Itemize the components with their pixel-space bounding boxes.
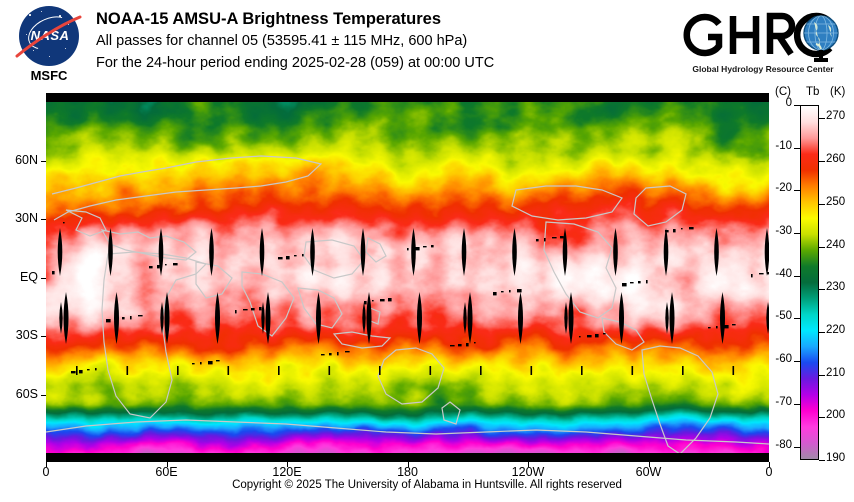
data-gap [159,228,164,276]
page-header: NASA MSFC NOAA-15 AMSU-A Brightness Temp… [0,0,854,93]
data-gap-speck [114,318,118,319]
data-gap [215,292,220,344]
data-gap-speck [337,352,339,355]
data-gap-speck [501,291,504,292]
data-gap-speck [423,246,427,247]
colorbar-celsius-label: -30 [764,225,792,237]
data-gap [310,228,315,276]
data-gap [665,302,668,334]
data-gap [468,292,473,344]
colorbar[interactable] [800,105,819,460]
lat-tick-label: 30S [0,328,38,342]
data-gap-speck [364,301,367,304]
data-gap-speck [493,292,497,295]
data-gap-speck [673,229,676,232]
data-gap-speck [681,228,683,229]
data-gap-tick [329,366,331,375]
data-gap-speck [130,316,132,319]
data-gap-speck [79,370,83,373]
lat-tick-label: 30N [0,211,38,225]
data-gap-speck [243,309,248,310]
data-gap-speck [646,280,648,283]
data-gap-speck [251,308,255,310]
lat-tick-label: 60N [0,153,38,167]
data-gap-speck [689,227,694,229]
data-gap-speck [122,317,125,319]
data-gap-speck [372,300,374,301]
data-gap-speck [294,255,297,256]
lat-tick-mark [41,278,46,279]
title-block: NOAA-15 AMSU-A Brightness Temperatures A… [96,8,494,74]
data-gap-tick [531,366,533,375]
data-gap [564,302,567,334]
data-gap [266,292,271,344]
colorbar-kelvin-tick [819,118,825,119]
colorbar-kelvin-label: 190 [826,452,845,464]
colorbar-kelvin-label: 200 [826,409,845,421]
msfc-label: MSFC [12,68,86,83]
lon-tick-mark [528,462,529,467]
colorbar-kelvin-label: 230 [826,281,845,293]
colorbar-unit-kelvin: (K) [830,86,845,98]
colorbar-kelvin-label: 260 [826,153,845,165]
ghrc-logo: Global Hydrology Resource Center [678,6,846,82]
data-gap-speck [595,334,599,337]
data-gap [58,228,63,276]
data-gap [165,292,170,344]
colorbar-celsius-label: -50 [764,310,792,322]
colorbar-celsius-label: -70 [764,396,792,408]
nasa-logo: NASA MSFC [12,6,86,88]
lon-tick-mark [769,462,770,467]
data-gap-speck [216,360,220,361]
data-gap [619,292,624,344]
data-gap-speck [380,299,385,301]
data-gap-speck [474,342,476,343]
data-gap [209,228,214,276]
data-gap-speck [466,343,469,346]
lon-tick-label: 120W [506,465,550,479]
data-gap-speck [536,239,539,241]
colorbar-kelvin-tick [819,460,825,461]
colorbar-kelvin-label: 270 [826,110,845,122]
data-gap [261,302,264,334]
colorbar-kelvin-label: 210 [826,367,845,379]
lon-tick-label: 0 [747,465,791,479]
data-gap [462,228,467,276]
data-gap-speck [724,325,729,328]
colorbar-celsius-label: -10 [764,140,792,152]
data-gap-speck [286,256,290,259]
data-gap-speck [458,344,462,346]
colorbar-celsius-tick [794,148,800,149]
data-gap-speck [415,247,420,250]
data-gap-speck [407,248,409,250]
lon-tick-mark [46,462,47,467]
data-gap-speck [630,282,634,283]
data-gap-tick [430,366,432,375]
data-gap-speck [732,324,736,325]
colorbar-kelvin-tick [819,289,825,290]
data-gap-tick [127,366,129,375]
data-gap [108,228,113,276]
data-gap [664,228,669,276]
data-gap-speck [751,274,753,277]
data-gap-speck [321,354,325,355]
data-gap-speck [603,333,606,334]
data-gap-tick [278,366,280,375]
data-gap-speck [329,353,332,355]
data-gap-speck [200,362,202,364]
data-gap-speck [587,335,592,337]
data-gap [518,292,523,344]
colorbar-celsius-label: 0 [764,97,792,109]
data-gap-speck [302,254,304,256]
data-gap [670,292,675,344]
data-gap [64,292,69,344]
data-gap [563,228,568,276]
colorbar-kelvin-tick [819,332,825,333]
lat-tick-mark [41,161,46,162]
colorbar-gradient [801,106,818,459]
data-gap-speck [759,273,764,274]
colorbar-kelvin-tick [819,375,825,376]
data-gap-tick [177,366,179,375]
lat-tick-mark [41,219,46,220]
data-gap [260,228,265,276]
data-gap-speck [259,307,262,310]
colorbar-celsius-label: -40 [764,268,792,280]
data-gap [720,292,725,344]
lon-tick-label: 180 [386,465,430,479]
colorbar-celsius-tick [794,318,800,319]
copyright-notice: Copyright © 2025 The University of Alaba… [0,479,854,491]
lon-tick-mark [167,462,168,467]
lat-tick-mark [41,395,46,396]
data-gap-speck [52,271,55,274]
data-gap [512,228,517,276]
data-gap-speck [278,257,283,259]
data-gap-speck [544,238,546,241]
data-gap-speck [638,281,641,283]
lon-tick-label: 0 [24,465,68,479]
colorbar-kelvin-tick [819,417,825,418]
data-gap-speck [431,245,434,247]
data-gap [362,302,365,334]
data-gap-speck [106,319,111,322]
lon-tick-mark [408,462,409,467]
lon-tick-mark [649,462,650,467]
lon-tick-label: 60W [627,465,671,479]
data-gap-speck [622,283,627,286]
data-gap-speck [165,264,167,265]
data-gap-speck [149,266,153,268]
data-gap-speck [208,361,213,364]
data-gap-tick [733,366,735,375]
nasa-swoosh-icon [14,12,84,60]
colorbar-celsius-tick [794,404,800,405]
data-gap-speck [71,371,76,373]
data-gap-tick [379,366,381,375]
data-gap-speck [560,236,564,238]
colorbar-celsius-tick [794,276,800,277]
orbital-data-gaps [46,102,769,453]
data-gap-speck [63,222,65,223]
data-gap [361,228,366,276]
channel-subtitle: All passes for channel 05 (53595.41 ± 11… [96,30,494,52]
colorbar-celsius-label: -60 [764,353,792,365]
data-gap-speck [345,351,350,352]
data-gap-speck [388,298,392,301]
data-gap-tick [632,366,634,375]
colorbar-kelvin-label: 250 [826,196,845,208]
data-gap [714,228,719,276]
colorbar-kelvin-label: 220 [826,324,845,336]
data-gap-tick [682,366,684,375]
data-gap-speck [517,289,522,292]
data-gap-speck [173,263,178,265]
colorbar-celsius-tick [794,105,800,106]
lat-tick-label: 60S [0,387,38,401]
colorbar-quantity: Tb [806,86,819,98]
data-gap-speck [665,230,669,232]
lat-tick-mark [41,336,46,337]
data-gap [367,292,372,344]
colorbar-celsius-tick [794,190,800,191]
colorbar-celsius-tick [794,447,800,448]
lon-tick-label: 60E [145,465,189,479]
brightness-temperature-map[interactable] [46,93,769,462]
data-gap [417,292,422,344]
data-gap-tick [228,366,230,375]
data-gap-speck [95,368,97,370]
data-gap-tick [581,366,583,375]
data-gap-speck [716,326,718,328]
lon-tick-mark [287,462,288,467]
data-gap-speck [157,265,160,268]
data-gap-speck [552,237,557,238]
ghrc-subtitle: Global Hydrology Resource Center [684,64,842,74]
data-gap-speck [579,336,581,337]
data-gap-speck [708,327,711,328]
period-subtitle: For the 24-hour period ending 2025-02-28… [96,52,494,74]
data-gap [160,302,163,334]
data-gap-speck [192,363,195,364]
data-gap-speck [450,345,455,346]
data-gap [59,302,62,334]
page-title: NOAA-15 AMSU-A Brightness Temperatures [96,8,494,30]
colorbar-kelvin-tick [819,161,825,162]
colorbar-celsius-label: -20 [764,182,792,194]
colorbar-kelvin-tick [819,247,825,248]
lat-tick-label: EQ [0,270,38,284]
data-gap-speck [509,290,511,292]
colorbar-kelvin-label: 240 [826,239,845,251]
data-gap [316,292,321,344]
data-gap [569,292,574,344]
data-gap [463,302,466,334]
data-gap [613,228,618,276]
colorbar-celsius-tick [794,233,800,234]
data-gap-speck [138,315,143,316]
colorbar-celsius-tick [794,361,800,362]
data-gap-tick [480,366,482,375]
colorbar-celsius-label: -80 [764,439,792,451]
colorbar-kelvin-tick [819,204,825,205]
data-gap [411,228,416,276]
data-gap-speck [87,369,90,370]
lon-tick-label: 120E [265,465,309,479]
data-gap-speck [235,310,237,313]
data-gap-tick [76,366,78,375]
ghrc-wordmark-icon [678,6,846,64]
